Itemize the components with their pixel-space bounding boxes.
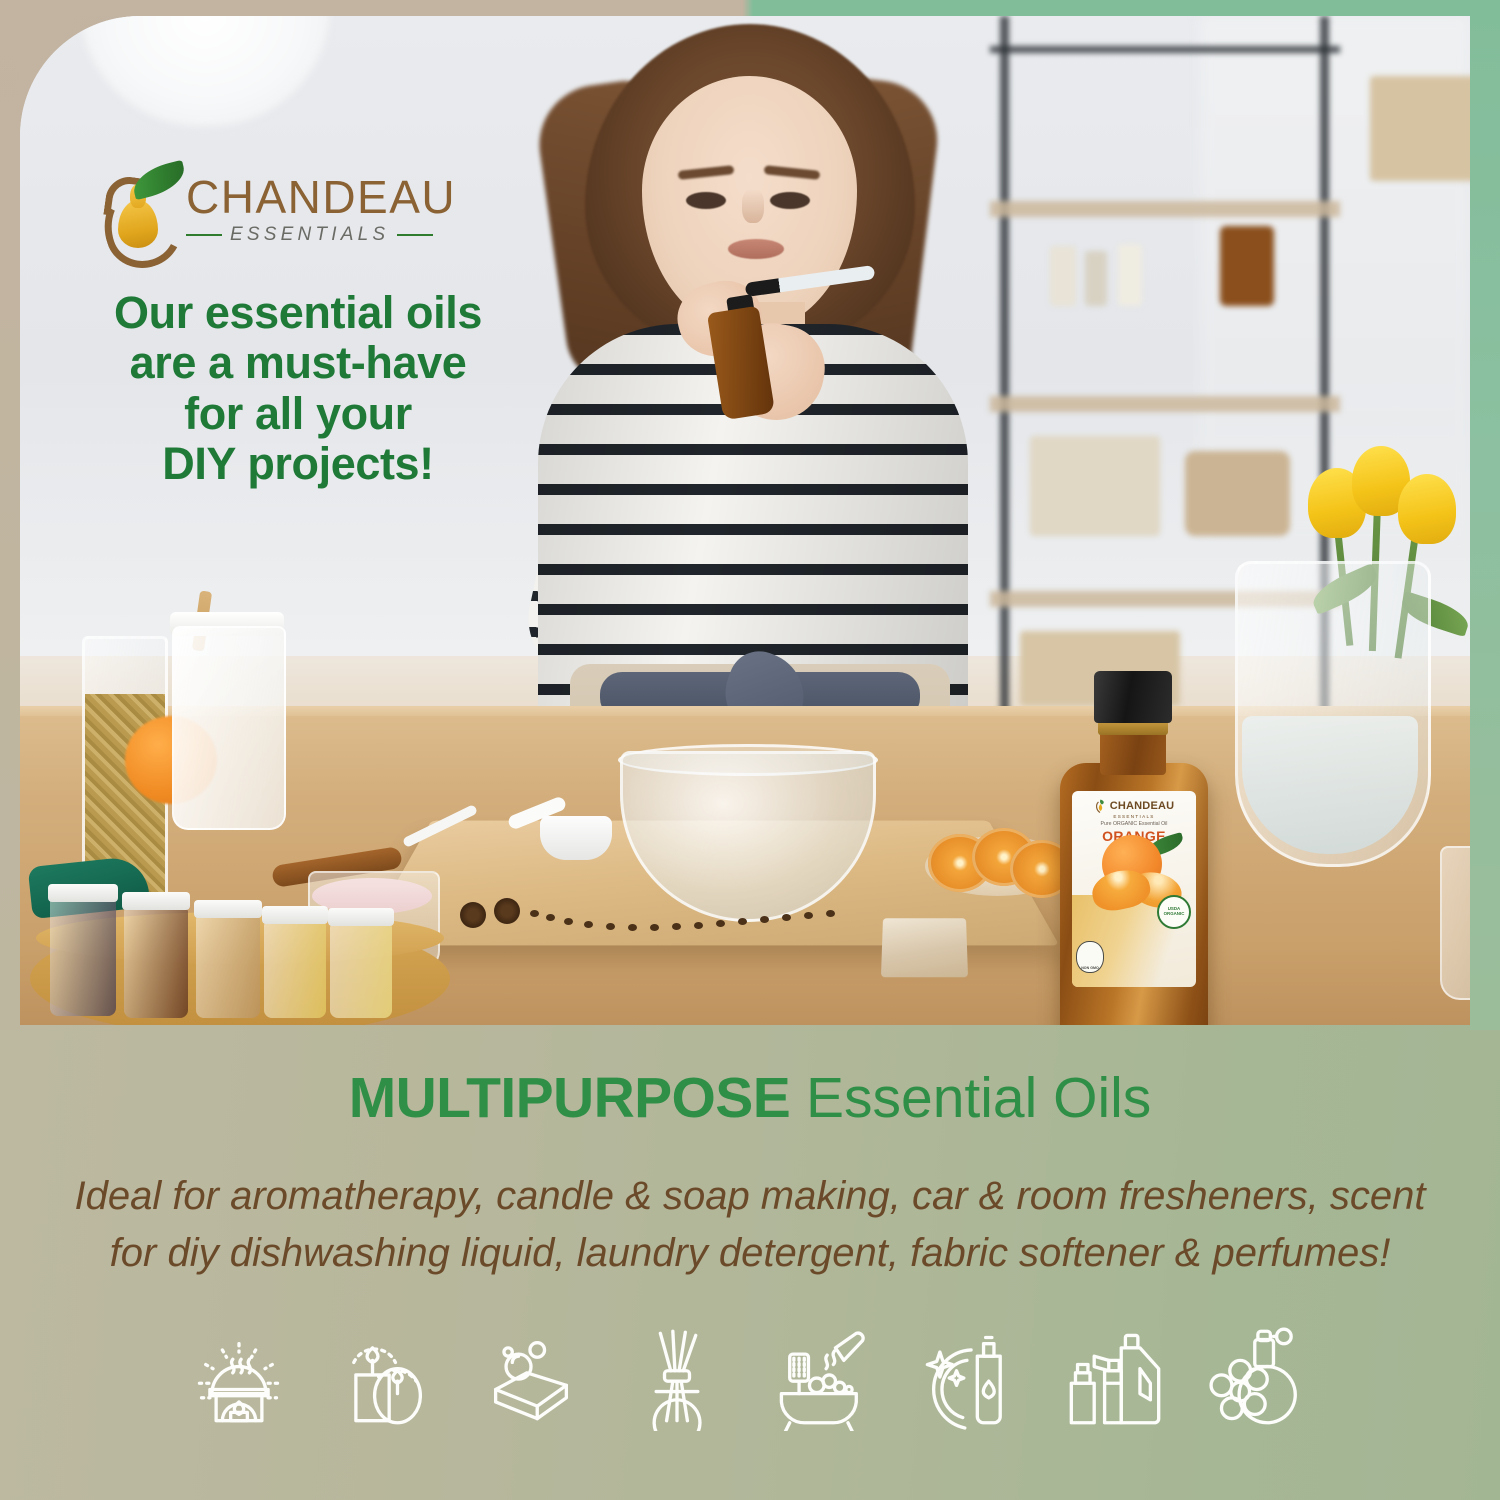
lifestyle-photo: CHANDEAU ESSENTIALS USDA ORGANIC NON GMO… <box>20 16 1470 1025</box>
dishwashing-liquid-icon[interactable] <box>910 1315 1028 1439</box>
spice-jar <box>264 920 326 1018</box>
soap-bar-icon[interactable] <box>472 1315 590 1439</box>
label-descriptor: Pure ORGANIC Essential Oil <box>1072 821 1196 827</box>
candle-wax-jar <box>172 626 286 830</box>
reed-diffuser-icon[interactable] <box>618 1315 736 1439</box>
oil-drop-leaf-icon <box>98 164 172 256</box>
brand-name: CHANDEAU <box>186 174 456 220</box>
brand-rule-left <box>186 234 222 236</box>
woman-smelling-essential-oil <box>490 24 1010 784</box>
usda-organic-badge: USDA ORGANIC <box>1157 895 1191 929</box>
hero-subtitle-line-1: Ideal for aromatherapy, candle & soap ma… <box>50 1168 1450 1225</box>
label-logo: CHANDEAU <box>1072 798 1196 814</box>
hero-subtitle-line-2: for diy dishwashing liquid, laundry dete… <box>50 1225 1450 1282</box>
brand-rule-right <box>397 234 433 236</box>
product-marketing-poster: CHANDEAU ESSENTIALS USDA ORGANIC NON GMO… <box>0 0 1500 1500</box>
hero-title-light: Essential Oils <box>806 1066 1151 1130</box>
bath-dropper-icon[interactable] <box>764 1315 882 1439</box>
headline-line-3: for all your <box>98 389 498 439</box>
headline-line-2: are a must-have <box>98 338 498 388</box>
oil-drop-leaf-icon <box>1094 798 1107 814</box>
spice-jar <box>124 906 188 1018</box>
candle-icon[interactable] <box>326 1315 444 1439</box>
use-case-icon-row <box>180 1312 1320 1442</box>
headline: Our essential oils are a must-have for a… <box>98 288 498 490</box>
bottle-cap <box>1094 671 1172 723</box>
oil-burner-icon[interactable] <box>180 1315 298 1439</box>
hero-subtitle: Ideal for aromatherapy, candle & soap ma… <box>50 1168 1450 1282</box>
product-bottle[interactable]: CHANDEAU ESSENTIALS USDA ORGANIC NON GMO… <box>1052 671 1217 1025</box>
left-frame-strip <box>0 0 20 1030</box>
headline-line-4: DIY projects! <box>98 439 498 489</box>
hero-title-bold: MULTIPURPOSE <box>349 1066 790 1130</box>
right-frame-strip <box>1470 0 1500 1030</box>
brand-logo: CHANDEAU ESSENTIALS <box>98 164 456 256</box>
small-glass <box>1440 846 1470 1000</box>
perfume-bottle-icon[interactable] <box>1202 1315 1320 1439</box>
brand-tagline: ESSENTIALS <box>230 224 389 246</box>
spice-jar <box>50 896 116 1016</box>
non-gmo-badge: NON GMO <box>1076 941 1104 973</box>
label-brand-sub: ESSENTIALS <box>1072 814 1196 819</box>
spice-ramekin <box>540 816 612 860</box>
yellow-tulip <box>1398 474 1456 544</box>
label-brand-name: CHANDEAU <box>1110 800 1175 812</box>
headline-line-1: Our essential oils <box>98 288 498 338</box>
top-frame-strip <box>0 0 1500 16</box>
spice-jar <box>196 914 260 1018</box>
bottle-label: CHANDEAU ESSENTIALS USDA ORGANIC NON GMO… <box>1072 791 1196 987</box>
handmade-soap-bar <box>881 918 968 977</box>
hero-title: MULTIPURPOSE Essential Oils <box>0 1070 1500 1127</box>
laundry-detergent-icon[interactable] <box>1056 1315 1174 1439</box>
spice-jar <box>330 922 392 1018</box>
spice-trail <box>460 896 860 936</box>
